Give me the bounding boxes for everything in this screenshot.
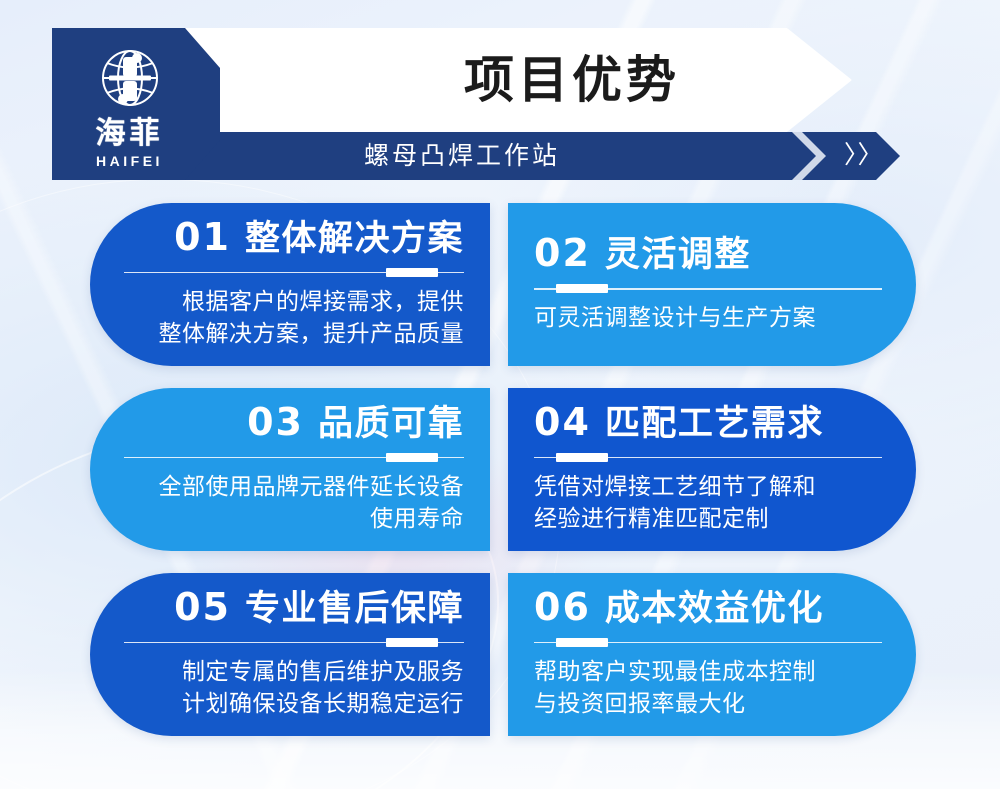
card-divider <box>124 453 464 462</box>
card-divider <box>534 453 882 462</box>
advantage-card-number: 04 <box>534 400 591 444</box>
advantage-card-heading: 灵活调整 <box>605 235 751 275</box>
advantage-card-04[interactable]: 04匹配工艺需求 凭借对焊接工艺细节了解和 经验进行精准匹配定制 <box>508 388 916 551</box>
advantage-card-number: 06 <box>534 585 591 629</box>
advantage-card-title: 02灵活调整 <box>534 234 751 274</box>
advantage-card-title: 05专业售后保障 <box>174 588 464 628</box>
advantage-card-heading: 专业售后保障 <box>245 589 464 629</box>
advantage-card-description: 制定专属的售后维护及服务 计划确保设备长期稳定运行 <box>182 656 464 721</box>
advantage-card-03[interactable]: 03品质可靠 全部使用品牌元器件延长设备 使用寿命 <box>90 388 490 551</box>
page-title: 项目优势 <box>382 42 762 118</box>
advantage-card-02[interactable]: 02灵活调整 可灵活调整设计与生产方案 <box>508 203 916 366</box>
advantage-card-01[interactable]: 01整体解决方案 根据客户的焊接需求，提供 整体解决方案，提升产品质量 <box>90 203 490 366</box>
globe-icon <box>93 41 167 115</box>
card-divider <box>534 638 882 647</box>
chevron-right-icon: 〉〉 <box>844 132 884 180</box>
advantage-card-description: 可灵活调整设计与生产方案 <box>534 302 816 335</box>
advantage-card-description: 根据客户的焊接需求，提供 整体解决方案，提升产品质量 <box>159 286 465 351</box>
advantage-row: 03品质可靠 全部使用品牌元器件延长设备 使用寿命 04匹配工艺需求 凭借对焊接… <box>0 388 1000 573</box>
brand-name-cn: 海菲 <box>96 119 164 149</box>
advantage-card-06[interactable]: 06成本效益优化 帮助客户实现最佳成本控制 与投资回报率最大化 <box>508 573 916 736</box>
card-divider <box>124 268 464 277</box>
advantage-grid: 01整体解决方案 根据客户的焊接需求，提供 整体解决方案，提升产品质量 02灵活… <box>0 203 1000 758</box>
advantage-card-number: 02 <box>534 231 591 275</box>
advantage-card-description: 凭借对焊接工艺细节了解和 经验进行精准匹配定制 <box>534 471 816 536</box>
advantage-card-description: 全部使用品牌元器件延长设备 使用寿命 <box>159 471 465 536</box>
advantage-card-title: 01整体解决方案 <box>174 218 464 258</box>
advantage-card-heading: 整体解决方案 <box>245 219 464 259</box>
advantage-card-heading: 成本效益优化 <box>605 589 824 629</box>
advantage-card-05[interactable]: 05专业售后保障 制定专属的售后维护及服务 计划确保设备长期稳定运行 <box>90 573 490 736</box>
advantage-card-description: 帮助客户实现最佳成本控制 与投资回报率最大化 <box>534 656 816 721</box>
page-subtitle: 螺母凸焊工作站 <box>252 132 672 180</box>
advantage-card-number: 03 <box>247 400 304 444</box>
header-banner: 海菲 HAIFEI 项目优势 螺母凸焊工作站 〉〉 <box>52 28 852 180</box>
advantage-card-number: 05 <box>174 585 231 629</box>
logo-badge: 海菲 HAIFEI <box>52 28 220 180</box>
advantage-card-heading: 匹配工艺需求 <box>605 404 824 444</box>
advantage-card-title: 06成本效益优化 <box>534 588 824 628</box>
advantage-card-title: 03品质可靠 <box>247 403 464 443</box>
card-divider <box>124 638 464 647</box>
card-divider <box>534 284 882 293</box>
poster-page: 海菲 HAIFEI 项目优势 螺母凸焊工作站 〉〉 01整体解决方案 根据客户的… <box>0 0 1000 789</box>
advantage-row: 01整体解决方案 根据客户的焊接需求，提供 整体解决方案，提升产品质量 02灵活… <box>0 203 1000 388</box>
advantage-card-title: 04匹配工艺需求 <box>534 403 824 443</box>
advantage-card-heading: 品质可靠 <box>318 404 464 444</box>
advantage-row: 05专业售后保障 制定专属的售后维护及服务 计划确保设备长期稳定运行 06成本效… <box>0 573 1000 758</box>
brand-name-en: HAIFEI <box>96 154 163 168</box>
advantage-card-number: 01 <box>174 215 231 259</box>
